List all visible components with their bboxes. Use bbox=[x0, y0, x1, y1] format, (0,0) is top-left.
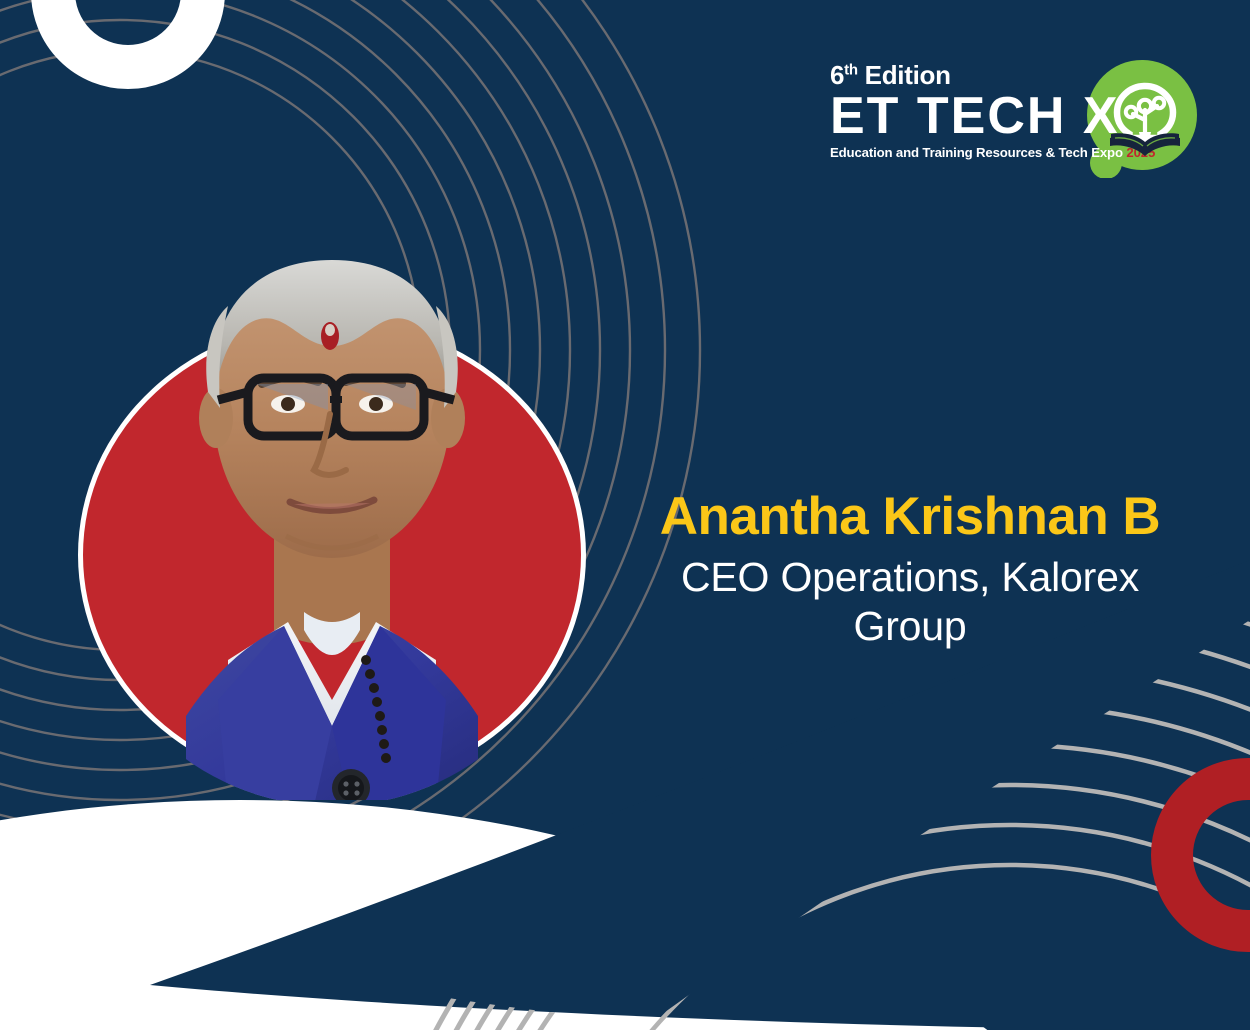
logo-tagline: Education and Training Resources & Tech … bbox=[830, 146, 1130, 159]
speaker-name: Anantha Krishnan B bbox=[600, 488, 1220, 545]
logo-edition-word: Edition bbox=[865, 60, 951, 90]
logo-text-block: 6th Edition ET TECH X Education and Trai… bbox=[830, 62, 1130, 159]
logo-wordmark: ET TECH X bbox=[830, 90, 1130, 143]
speaker-role-line-1: CEO Operations, Kalorex bbox=[600, 553, 1220, 601]
speaker-portrait-container bbox=[78, 320, 586, 790]
logo-edition-label: 6th Edition bbox=[830, 62, 1130, 88]
speaker-role: CEO Operations, Kalorex Group bbox=[600, 553, 1220, 650]
logo-edition-ordinal: th bbox=[844, 61, 858, 78]
speaker-role-line-2: Group bbox=[600, 602, 1220, 650]
logo-edition-number: 6 bbox=[830, 60, 844, 90]
event-logo-lockup[interactable]: 6th Edition ET TECH X Education and Trai… bbox=[830, 62, 1195, 172]
speaker-info-block: Anantha Krishnan B CEO Operations, Kalor… bbox=[600, 488, 1220, 650]
lightbulb-circuit-book-icon bbox=[1108, 80, 1182, 158]
speaker-announcement-poster: Anantha Krishnan B CEO Operations, Kalor… bbox=[0, 0, 1250, 1030]
portrait-red-circle bbox=[78, 320, 586, 790]
logo-tagline-main: Education and Training Resources & Tech … bbox=[830, 145, 1123, 160]
